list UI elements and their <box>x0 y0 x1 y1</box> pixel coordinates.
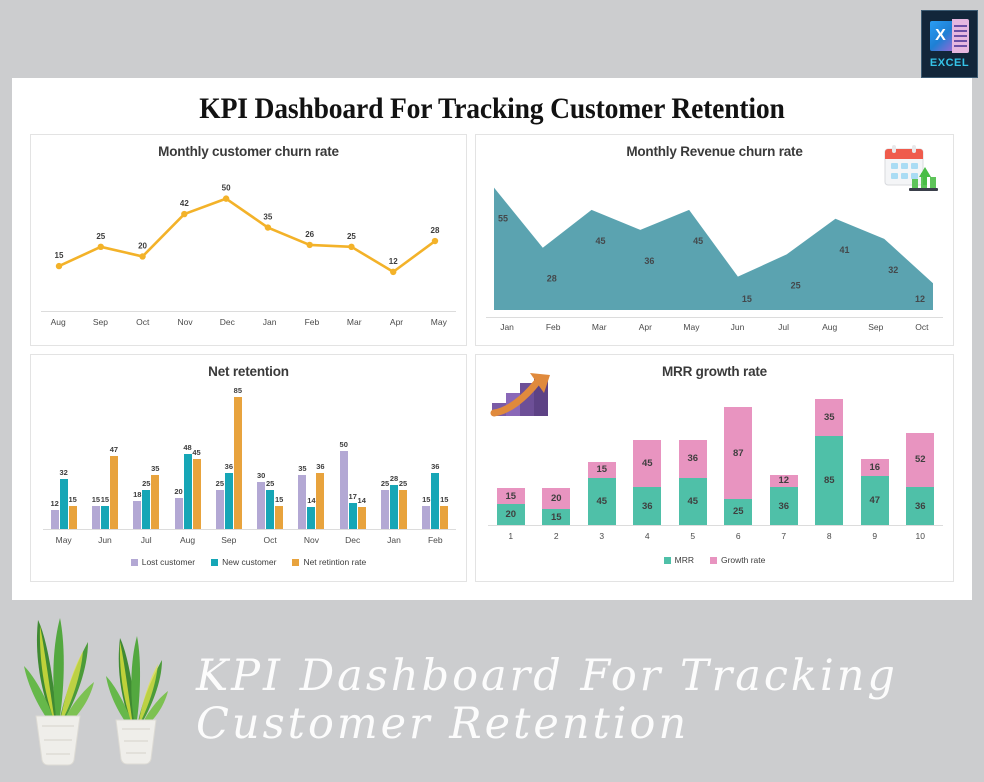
bar-value-label: 85 <box>234 386 242 395</box>
bar-group: 501714 <box>332 389 373 529</box>
retention-legend: Lost customerNew customerNet retintion r… <box>31 557 466 567</box>
bar-segment: 15 <box>497 488 525 504</box>
axis-tick: 3 <box>579 531 625 541</box>
bar: 25 <box>266 490 274 529</box>
axis-tick: Jun <box>84 535 125 545</box>
svg-text:28: 28 <box>547 274 557 284</box>
svg-text:32: 32 <box>888 265 898 275</box>
axis-tick: Dec <box>332 535 373 545</box>
svg-text:45: 45 <box>693 236 703 246</box>
bar-value-label: 30 <box>257 471 265 480</box>
axis-tick: 10 <box>898 531 944 541</box>
bar-segment: 16 <box>861 459 889 476</box>
bar: 30 <box>257 482 265 529</box>
bar: 28 <box>390 485 398 529</box>
mrr-axis-line <box>488 525 943 526</box>
retention-axis-line <box>43 529 456 530</box>
watermark-line-2: Customer Retention <box>196 700 956 748</box>
excel-label: EXCEL <box>930 57 969 69</box>
svg-text:25: 25 <box>791 280 801 290</box>
bar-group: 1545 <box>579 399 625 525</box>
svg-text:55: 55 <box>498 214 508 224</box>
svg-text:20: 20 <box>138 241 147 250</box>
axis-tick: Feb <box>530 322 576 332</box>
axis-tick: 8 <box>807 531 853 541</box>
bar-value-label: 18 <box>133 490 141 499</box>
bar: 32 <box>60 479 68 529</box>
excel-x-letter: X <box>930 21 952 51</box>
bar-value-label: 28 <box>390 474 398 483</box>
svg-text:12: 12 <box>915 294 925 304</box>
axis-tick: Sep <box>208 535 249 545</box>
chart-title-customer-churn: Monthly customer churn rate <box>31 135 466 159</box>
bar-value-label: 25 <box>381 479 389 488</box>
svg-text:12: 12 <box>389 257 398 266</box>
bar-value-label: 25 <box>216 479 224 488</box>
bar: 35 <box>298 475 306 529</box>
bar: 14 <box>358 507 366 529</box>
bar-value-label: 35 <box>151 464 159 473</box>
bar-group: 3585 <box>807 399 853 525</box>
bar-group: 302515 <box>249 389 290 529</box>
dashboard-canvas: KPI Dashboard For Tracking Customer Rete… <box>12 78 972 600</box>
axis-tick: Nov <box>164 317 206 327</box>
axis-tick: Nov <box>291 535 332 545</box>
bar: 12 <box>51 510 59 529</box>
bar: 36 <box>431 473 439 529</box>
panel-revenue-churn: Monthly Revenue churn rate 5528453645152… <box>475 134 954 346</box>
axis-tick: Sep <box>79 317 121 327</box>
axis-tick: Aug <box>807 322 853 332</box>
bar-value-label: 36 <box>431 462 439 471</box>
svg-text:36: 36 <box>644 256 654 266</box>
bar-segment: 45 <box>633 440 661 487</box>
bar: 25 <box>399 490 407 529</box>
bar: 25 <box>216 490 224 529</box>
bar-segment: 35 <box>815 399 843 436</box>
axis-tick: Jan <box>373 535 414 545</box>
bar-segment: 52 <box>906 433 934 488</box>
revenue-churn-area-chart: 55284536451525413212 <box>486 161 941 316</box>
bar: 18 <box>133 501 141 529</box>
bar-value-label: 14 <box>307 496 315 505</box>
svg-text:15: 15 <box>742 294 752 304</box>
bar: 50 <box>340 451 348 529</box>
charts-grid: Monthly customer churn rate 152520425035… <box>30 134 954 586</box>
axis-tick: 5 <box>670 531 716 541</box>
net-retention-bar-chart: 1232151515471825352048452536853025153514… <box>43 389 456 529</box>
axis-tick: Mar <box>576 322 622 332</box>
svg-text:45: 45 <box>596 236 606 246</box>
bar: 15 <box>69 506 77 529</box>
bar: 36 <box>225 473 233 529</box>
excel-badge: X EXCEL <box>921 10 978 78</box>
bar-group: 182535 <box>126 389 167 529</box>
axis-tick: Feb <box>415 535 456 545</box>
bar-segment: 85 <box>815 436 843 525</box>
bar-segment: 36 <box>633 487 661 525</box>
snake-plant-right <box>96 618 178 768</box>
axis-tick: Jul <box>126 535 167 545</box>
svg-text:25: 25 <box>347 232 356 241</box>
axis-tick: May <box>43 535 84 545</box>
bar-value-label: 35 <box>298 464 306 473</box>
svg-text:15: 15 <box>55 251 64 260</box>
bar: 17 <box>349 503 357 529</box>
excel-x-panel: X <box>930 21 952 51</box>
axis-tick: 1 <box>488 531 534 541</box>
bar: 15 <box>92 506 100 529</box>
watermark-line-1: KPI Dashboard For Tracking <box>196 652 956 700</box>
bar-group: 253685 <box>208 389 249 529</box>
bar: 36 <box>316 473 324 529</box>
stacked-bar: 1520 <box>497 488 525 525</box>
bar: 25 <box>381 490 389 529</box>
bar-value-label: 17 <box>349 492 357 501</box>
bar-group: 351436 <box>291 389 332 529</box>
svg-text:26: 26 <box>305 230 314 239</box>
stacked-bar: 1647 <box>861 459 889 525</box>
bar-value-label: 15 <box>92 495 100 504</box>
mrr-x-axis: 12345678910 <box>488 531 943 541</box>
bar-value-label: 32 <box>59 468 67 477</box>
panel-customer-churn: Monthly customer churn rate 152520425035… <box>30 134 467 346</box>
bar: 15 <box>101 506 109 529</box>
bar-value-label: 15 <box>275 495 283 504</box>
bar-group: 8725 <box>716 399 762 525</box>
svg-text:41: 41 <box>839 245 849 255</box>
stacked-bar: 5236 <box>906 433 934 525</box>
bar-segment: 36 <box>906 487 934 525</box>
bar-value-label: 36 <box>225 462 233 471</box>
axis-tick: Jan <box>484 322 530 332</box>
bar-segment: 36 <box>770 487 798 525</box>
bar-group: 153615 <box>415 389 456 529</box>
bar: 14 <box>307 507 315 529</box>
bar: 85 <box>234 397 242 529</box>
axis-tick: 4 <box>625 531 671 541</box>
bar: 47 <box>110 456 118 529</box>
axis-tick: 7 <box>761 531 807 541</box>
svg-text:25: 25 <box>96 232 105 241</box>
axis-tick: May <box>668 322 714 332</box>
bar-group: 5236 <box>898 399 944 525</box>
axis-tick: Oct <box>249 535 290 545</box>
bar-segment: 12 <box>770 475 798 488</box>
bar: 15 <box>422 506 430 529</box>
panel-mrr-growth: MRR growth rate 152020151545453636458725… <box>475 354 954 582</box>
svg-text:50: 50 <box>222 184 231 193</box>
bar-group: 4536 <box>625 399 671 525</box>
bar-segment: 47 <box>861 476 889 525</box>
watermark: KPI Dashboard For Tracking Customer Rete… <box>196 652 956 748</box>
bar-group: 2015 <box>534 399 580 525</box>
revenue-x-axis: JanFebMarAprMayJunJulAugSepOct <box>484 322 945 332</box>
stacked-bar: 2015 <box>542 488 570 525</box>
bar-group: 1647 <box>852 399 898 525</box>
axis-tick: Sep <box>853 322 899 332</box>
bar-value-label: 15 <box>422 495 430 504</box>
legend-label: MRR <box>675 555 694 565</box>
legend-item[interactable]: MRR <box>664 555 694 565</box>
bar-group: 204845 <box>167 389 208 529</box>
svg-text:28: 28 <box>431 226 440 235</box>
axis-tick: Feb <box>291 317 333 327</box>
page-title: KPI Dashboard For Tracking Customer Rete… <box>50 78 933 132</box>
svg-text:42: 42 <box>180 199 189 208</box>
excel-sheet-lines <box>952 19 969 53</box>
legend-label: Net retintion rate <box>303 557 366 567</box>
stacked-bar: 8725 <box>724 407 752 525</box>
axis-tick: Mar <box>333 317 375 327</box>
snake-plant-left <box>12 598 104 768</box>
bar: 20 <box>175 498 183 529</box>
axis-tick: Apr <box>375 317 417 327</box>
bar-group: 123215 <box>43 389 84 529</box>
churn-x-axis: AugSepOctNovDecJanFebMarAprMay <box>37 317 460 327</box>
svg-text:35: 35 <box>263 213 272 222</box>
axis-tick: Aug <box>37 317 79 327</box>
bar-group: 252825 <box>373 389 414 529</box>
bar-segment: 20 <box>542 488 570 509</box>
bar-value-label: 12 <box>50 499 58 508</box>
axis-tick: May <box>418 317 460 327</box>
bar-segment: 15 <box>542 509 570 525</box>
bar: 15 <box>440 506 448 529</box>
bar-value-label: 15 <box>440 495 448 504</box>
legend-item[interactable]: Lost customer <box>131 557 195 567</box>
bar-segment: 45 <box>588 478 616 525</box>
mrr-growth-bar-chart: 1520201515454536364587251236358516475236 <box>488 399 943 525</box>
excel-icon: X <box>930 19 970 53</box>
axis-tick: Oct <box>122 317 164 327</box>
bar-value-label: 36 <box>316 462 324 471</box>
axis-tick: Jan <box>248 317 290 327</box>
bar-segment: 25 <box>724 499 752 525</box>
axis-tick: 6 <box>716 531 762 541</box>
axis-tick: Oct <box>899 322 945 332</box>
stacked-bar: 3585 <box>815 399 843 525</box>
bar-segment: 36 <box>679 440 707 478</box>
axis-tick: Aug <box>167 535 208 545</box>
panel-net-retention: Net retention 12321515154718253520484525… <box>30 354 467 582</box>
bar-value-label: 50 <box>340 440 348 449</box>
revenue-axis-line <box>486 317 943 318</box>
bar-segment: 20 <box>497 504 525 525</box>
bar-segment: 87 <box>724 407 752 498</box>
legend-item[interactable]: New customer <box>211 557 276 567</box>
chart-title-net-retention: Net retention <box>31 355 466 379</box>
axis-tick: Dec <box>206 317 248 327</box>
legend-label: Growth rate <box>721 555 765 565</box>
bar-value-label: 25 <box>266 479 274 488</box>
bar: 35 <box>151 475 159 529</box>
bar-value-label: 25 <box>142 479 150 488</box>
bar-value-label: 14 <box>358 496 366 505</box>
axis-tick: Jun <box>714 322 760 332</box>
stacked-bar: 4536 <box>633 440 661 525</box>
stacked-bar: 1545 <box>588 462 616 525</box>
bar-value-label: 15 <box>68 495 76 504</box>
churn-axis-line <box>41 311 456 312</box>
bar-segment: 15 <box>588 462 616 478</box>
bar-value-label: 48 <box>183 443 191 452</box>
bar-value-label: 15 <box>101 495 109 504</box>
bar-group: 1236 <box>761 399 807 525</box>
bar-group: 151547 <box>84 389 125 529</box>
bar-group: 1520 <box>488 399 534 525</box>
mrr-legend: MRRGrowth rate <box>476 555 953 565</box>
customer-churn-line-chart: 15252042503526251228 <box>37 163 457 303</box>
axis-tick: Jul <box>761 322 807 332</box>
bar: 48 <box>184 454 192 529</box>
legend-item[interactable]: Growth rate <box>710 555 765 565</box>
stacked-bar: 3645 <box>679 440 707 525</box>
bar-group: 3645 <box>670 399 716 525</box>
axis-tick: 9 <box>852 531 898 541</box>
legend-label: New customer <box>222 557 276 567</box>
bar-segment: 45 <box>679 478 707 525</box>
bar-value-label: 20 <box>174 487 182 496</box>
bar: 45 <box>193 459 201 529</box>
legend-item[interactable]: Net retintion rate <box>292 557 366 567</box>
axis-tick: 2 <box>534 531 580 541</box>
stacked-bar: 1236 <box>770 475 798 525</box>
retention-x-axis: MayJunJulAugSepOctNovDecJanFeb <box>43 535 456 545</box>
bar-value-label: 45 <box>192 448 200 457</box>
legend-label: Lost customer <box>142 557 195 567</box>
axis-tick: Apr <box>622 322 668 332</box>
bar: 15 <box>275 506 283 529</box>
bar-value-label: 47 <box>110 445 118 454</box>
bar: 25 <box>142 490 150 529</box>
bar-value-label: 25 <box>399 479 407 488</box>
